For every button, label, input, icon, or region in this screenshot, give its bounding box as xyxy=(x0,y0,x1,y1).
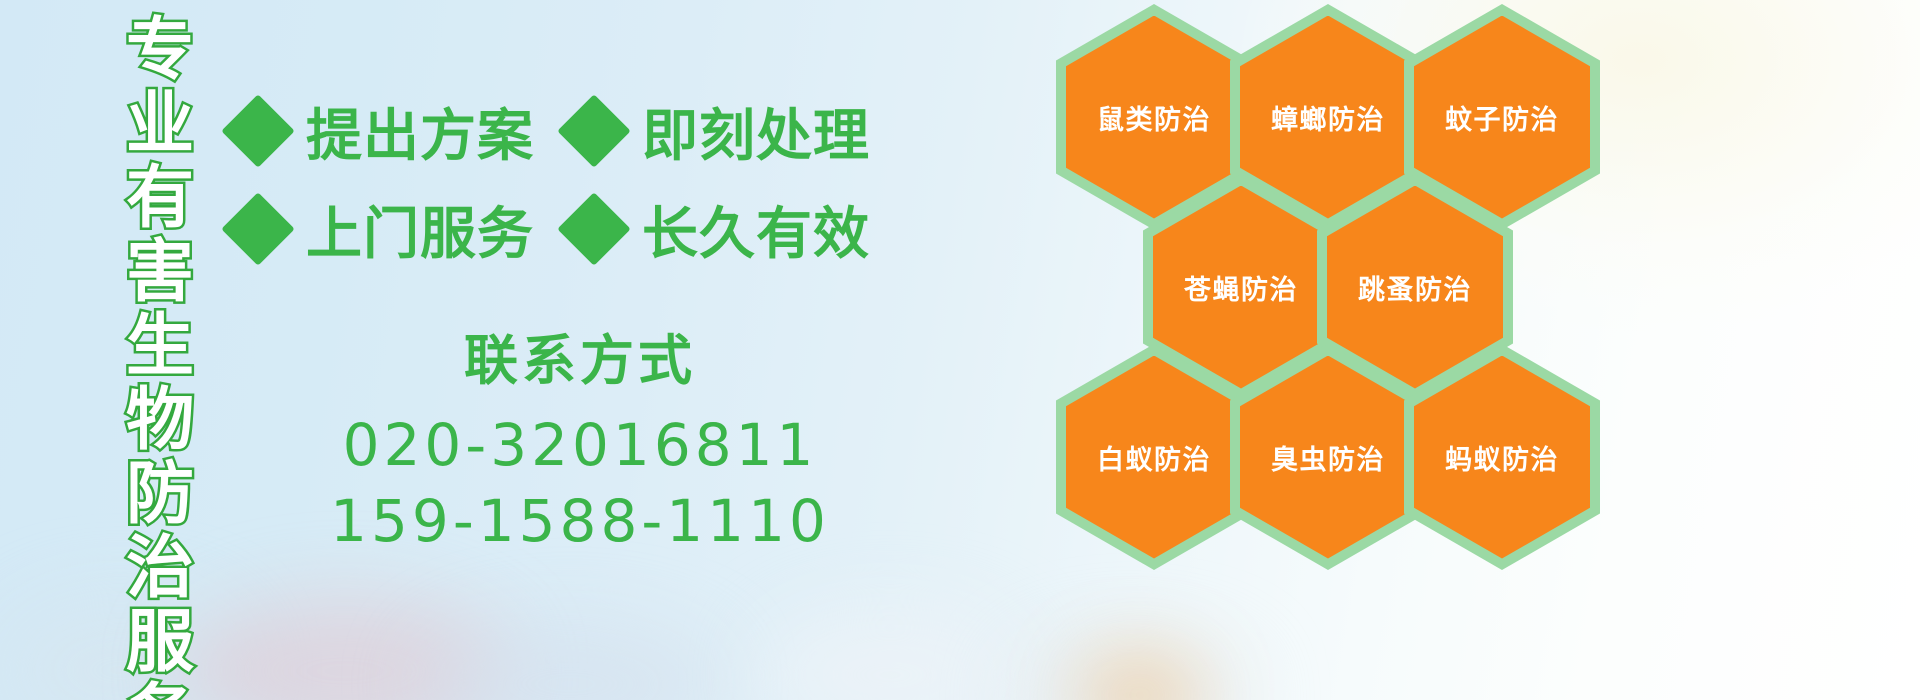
vertical-headline-char: 服 xyxy=(126,606,194,680)
feature-item: 上门服务 xyxy=(232,189,534,270)
hexagon-inner: 白蚁防治 xyxy=(1066,356,1242,559)
vertical-headline-char: 业 xyxy=(126,88,194,162)
feature-row: 提出方案 即刻处理 xyxy=(232,82,872,180)
background-blur-shape xyxy=(420,624,720,700)
vertical-headline: 专 业 有 害 生 物 防 治 服 务 xyxy=(106,14,214,686)
vertical-headline-char: 防 xyxy=(126,458,194,532)
feature-label: 长久有效 xyxy=(642,189,870,270)
hexagon-inner: 蚂蚁防治 xyxy=(1414,356,1590,559)
hexagon-inner: 蟑螂防治 xyxy=(1240,16,1416,219)
background-blur-shape xyxy=(760,610,1020,700)
vertical-headline-char: 务 xyxy=(126,680,194,700)
feature-list: 提出方案 即刻处理 上门服务 长久有效 xyxy=(232,82,872,278)
diamond-icon xyxy=(221,192,295,266)
service-label: 臭虫防治 xyxy=(1271,438,1385,477)
diamond-icon xyxy=(557,94,631,168)
feature-label: 上门服务 xyxy=(306,189,534,270)
feature-item: 长久有效 xyxy=(568,189,870,270)
vertical-headline-char: 生 xyxy=(126,310,194,384)
hexagon-inner: 蚊子防治 xyxy=(1414,16,1590,219)
hexagon-inner: 鼠类防治 xyxy=(1066,16,1242,219)
service-label: 蚂蚁防治 xyxy=(1445,438,1559,477)
contact-block: 联系方式 020-32016811 159-1588-1110 xyxy=(300,316,860,559)
service-label: 鼠类防治 xyxy=(1097,98,1211,137)
hexagon-inner: 苍蝇防治 xyxy=(1153,186,1329,389)
service-label: 蟑螂防治 xyxy=(1271,98,1385,137)
vertical-headline-char: 治 xyxy=(126,532,194,606)
service-hexagon-grid: 鼠类防治 蟑螂防治 蚊子防治 苍蝇防治 跳蚤防治 白蚁防治 xyxy=(1056,0,1676,700)
feature-item: 提出方案 xyxy=(232,91,534,172)
service-label: 苍蝇防治 xyxy=(1184,268,1298,307)
vertical-headline-char: 专 xyxy=(126,14,194,88)
vertical-headline-char: 物 xyxy=(126,384,194,458)
hexagon-inner: 臭虫防治 xyxy=(1240,356,1416,559)
contact-phone-mobile[interactable]: 159-1588-1110 xyxy=(300,483,860,559)
feature-item: 即刻处理 xyxy=(568,91,870,172)
service-label: 跳蚤防治 xyxy=(1358,268,1472,307)
vertical-headline-char: 害 xyxy=(126,236,194,310)
feature-row: 上门服务 长久有效 xyxy=(232,180,872,278)
hexagon-inner: 跳蚤防治 xyxy=(1327,186,1503,389)
feature-label: 提出方案 xyxy=(306,91,534,172)
diamond-icon xyxy=(557,192,631,266)
service-label: 白蚁防治 xyxy=(1097,438,1211,477)
contact-heading: 联系方式 xyxy=(300,316,860,395)
contact-phone-landline[interactable]: 020-32016811 xyxy=(300,407,860,483)
pest-control-banner: 专 业 有 害 生 物 防 治 服 务 提出方案 即刻处理 上门服务 xyxy=(0,0,1920,700)
service-label: 蚊子防治 xyxy=(1445,98,1559,137)
diamond-icon xyxy=(221,94,295,168)
background-blur-shape xyxy=(180,596,510,700)
feature-label: 即刻处理 xyxy=(642,91,870,172)
vertical-headline-char: 有 xyxy=(126,162,194,236)
